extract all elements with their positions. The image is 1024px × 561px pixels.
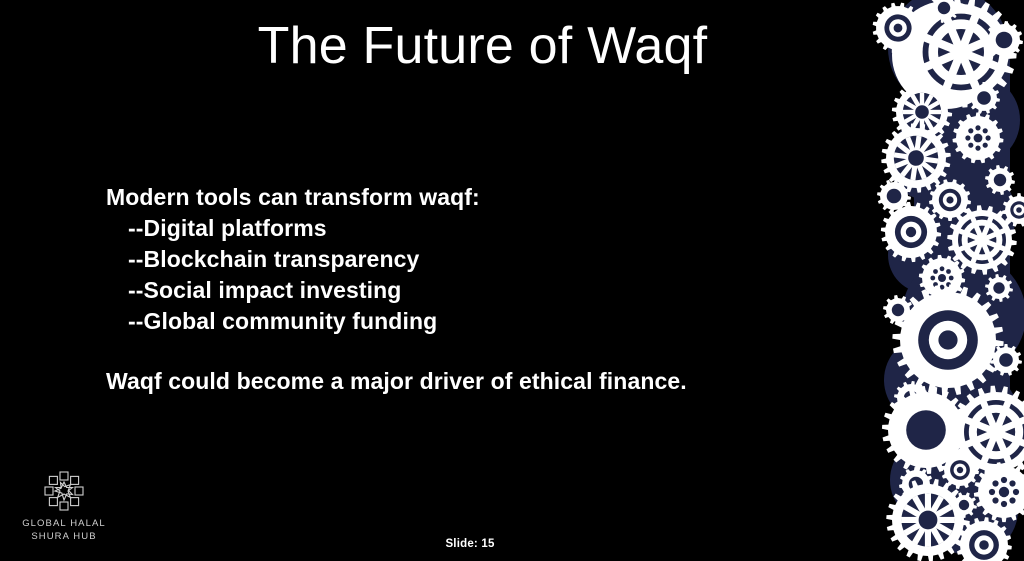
presentation-slide: The Future of Waqf Modern tools can tran… <box>0 0 1024 561</box>
logo: GLOBAL HALAL SHURA HUB <box>12 468 116 543</box>
closing-statement: Waqf could become a major driver of ethi… <box>106 368 687 395</box>
slide-body: Modern tools can transform waqf: --Digit… <box>106 182 846 337</box>
bullet-item: --Global community funding <box>106 306 846 337</box>
slide-number: Slide: 15 <box>0 538 940 550</box>
bullet-item: --Social impact investing <box>106 275 846 306</box>
bullet-item: --Blockchain transparency <box>106 244 846 275</box>
bullet-item: --Digital platforms <box>106 213 846 244</box>
gears-illustration <box>856 0 1024 561</box>
global-halal-shura-hub-star-mark <box>40 468 88 514</box>
logo-line-1: GLOBAL HALAL <box>12 517 116 530</box>
gears-svg <box>856 0 1024 561</box>
slide-title: The Future of Waqf <box>0 19 965 74</box>
body-heading: Modern tools can transform waqf: <box>106 182 846 213</box>
